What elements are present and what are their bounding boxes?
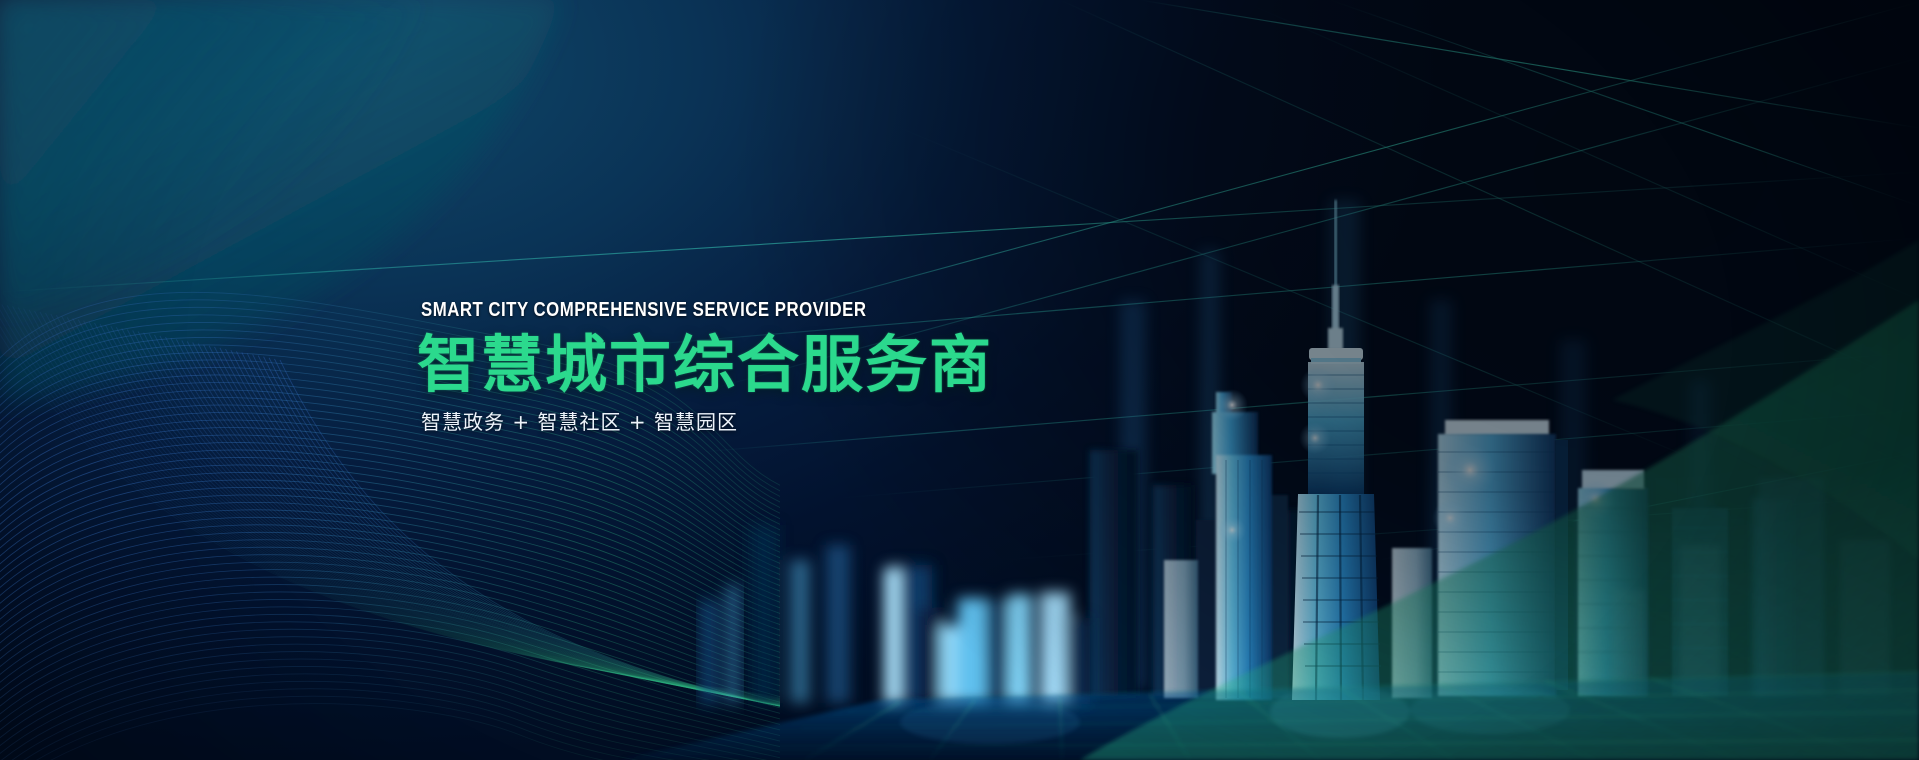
smart-city-hero-banner: SMART CITY COMPREHENSIVE SERVICE PROVIDE… [0, 0, 1919, 760]
hero-copy-block: SMART CITY COMPREHENSIVE SERVICE PROVIDE… [420, 300, 993, 432]
hero-subtitle: 智慧政务 + 智慧社区 + 智慧园区 [421, 412, 993, 432]
hero-eyebrow: SMART CITY COMPREHENSIVE SERVICE PROVIDE… [421, 300, 890, 321]
page-title: 智慧城市综合服务商 [417, 333, 993, 396]
